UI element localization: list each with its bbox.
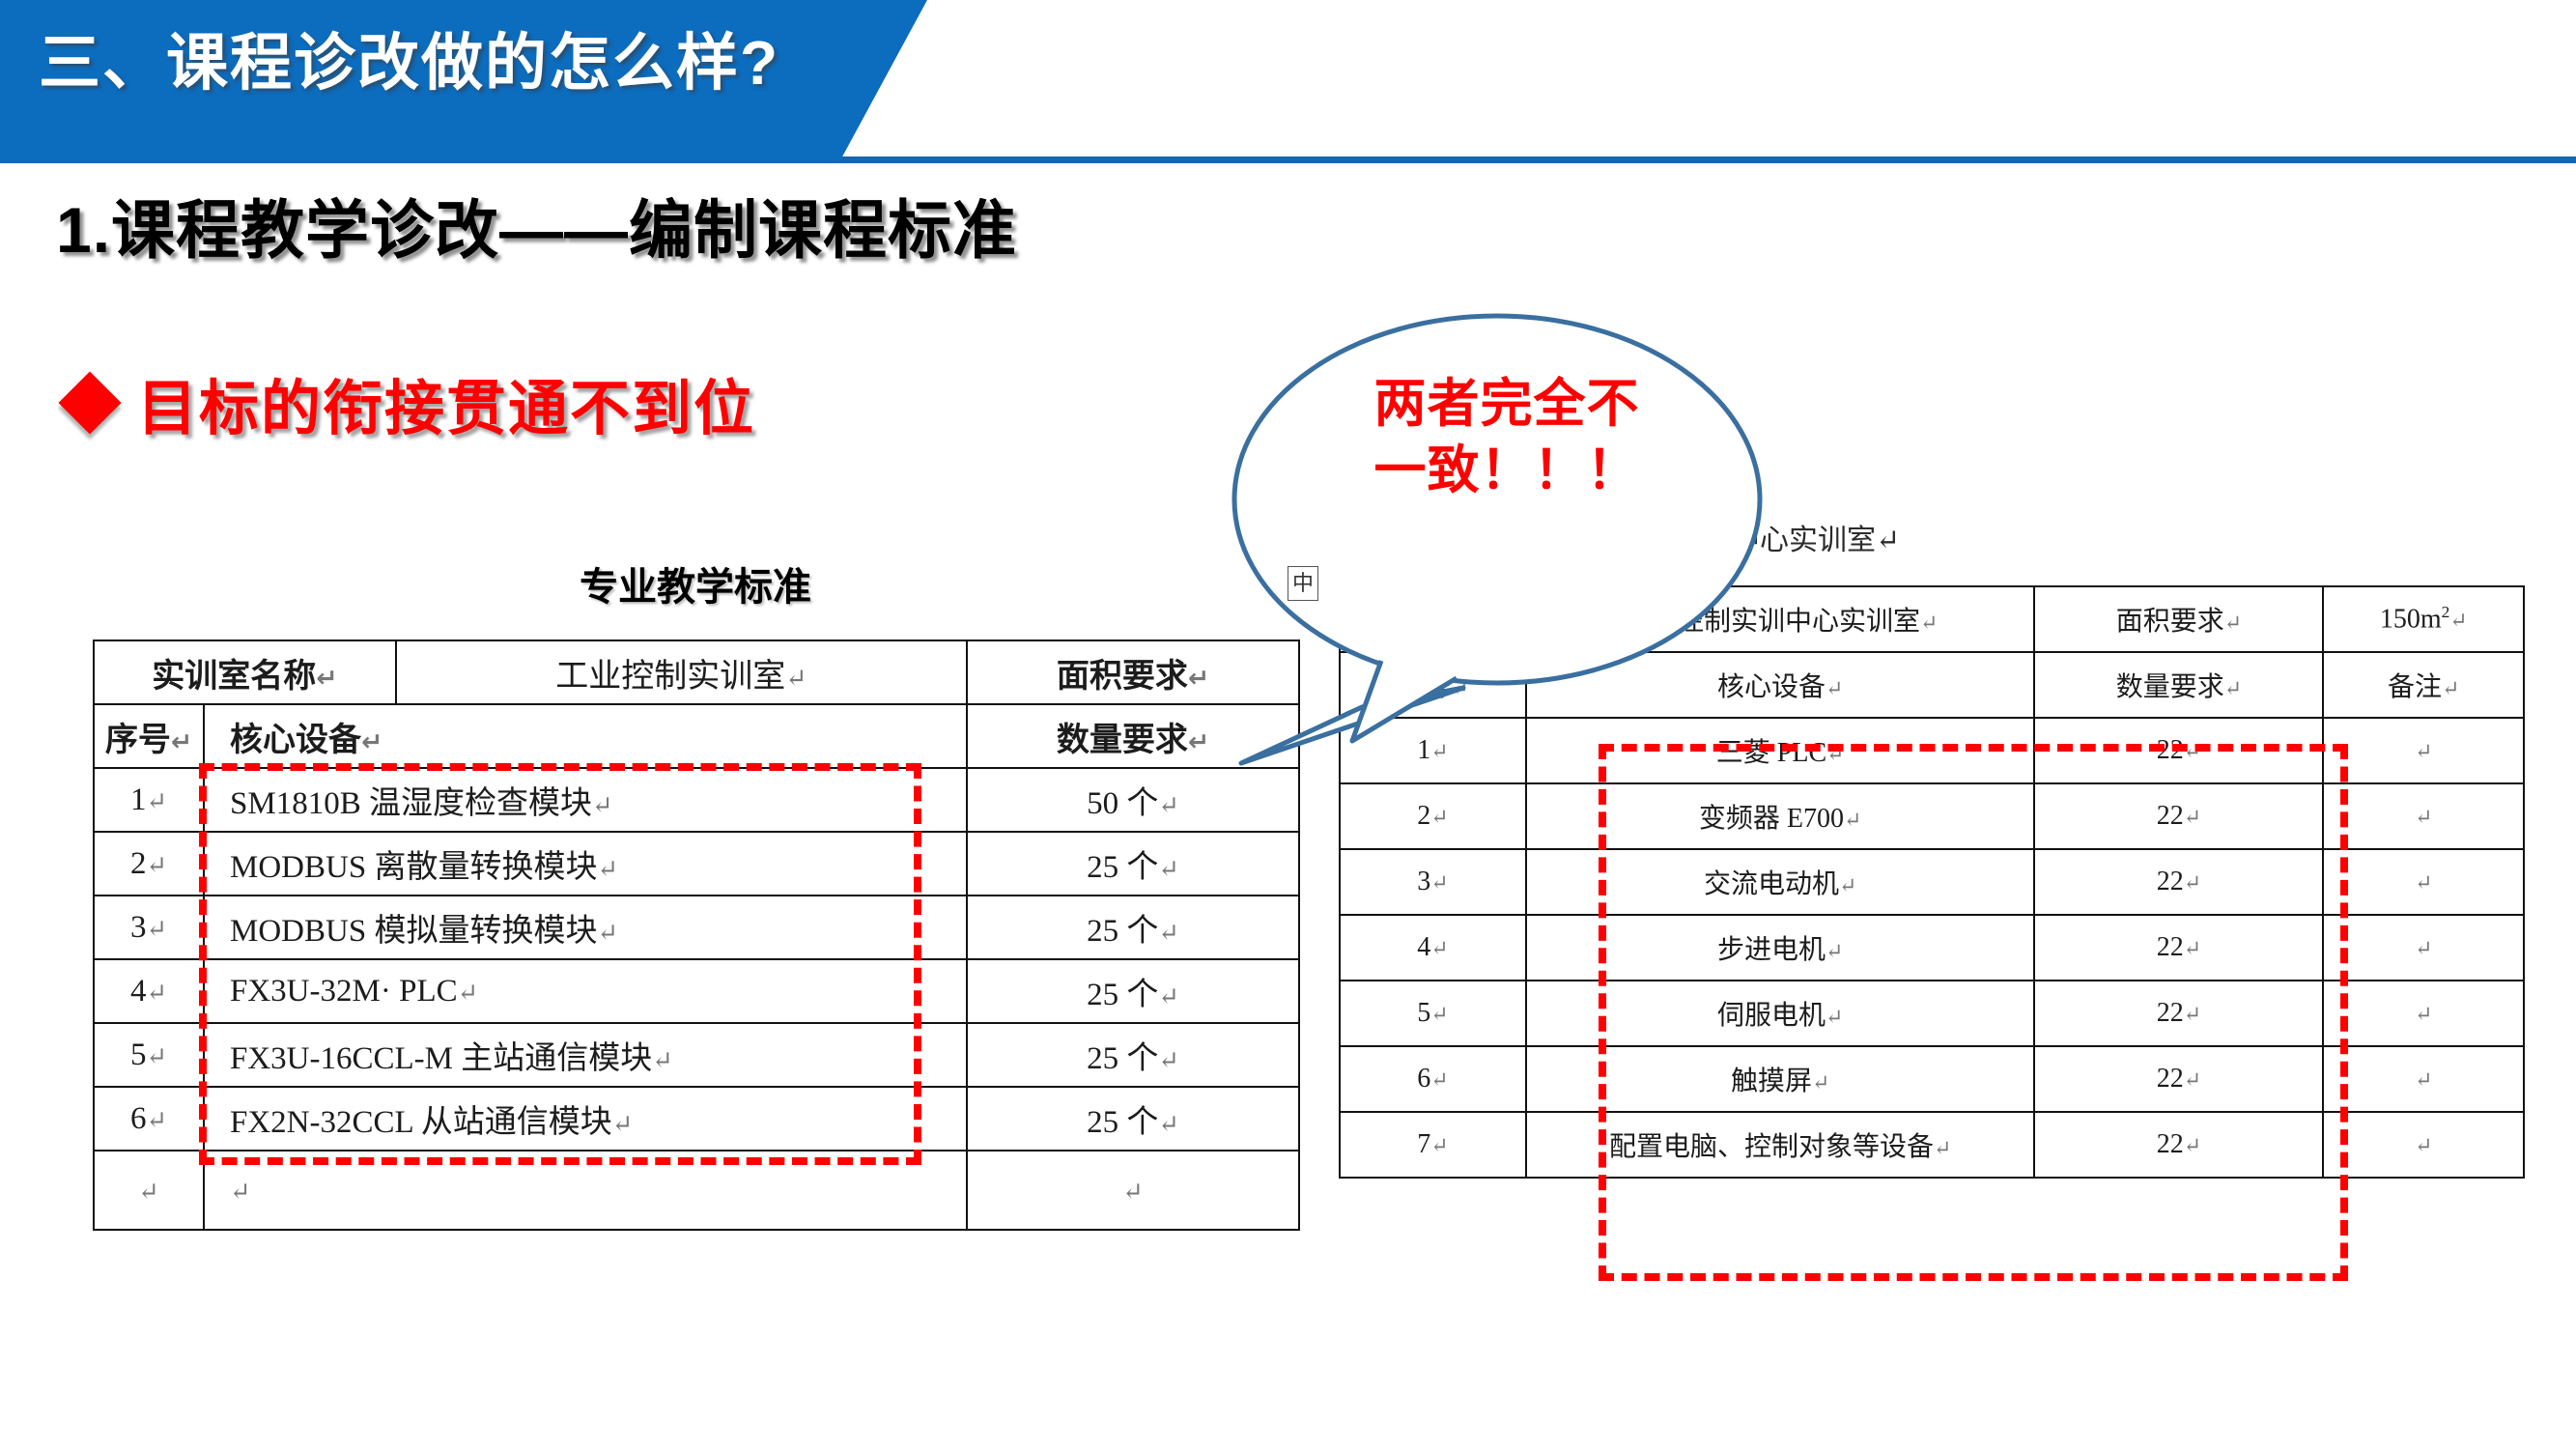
cell-seq: 4↵ (94, 959, 204, 1023)
banner-title: 三、课程诊改做的怎么样? (39, 14, 779, 102)
cell-device: 伺服电机↵ (1526, 981, 2035, 1046)
cell-seq: 2↵ (94, 832, 204, 896)
header-cell-area-req: 面积要求↵ (2034, 586, 2323, 652)
table-row: 5↵ 伺服电机↵ 22↵ ↵ (1340, 981, 2524, 1046)
table-row: 7↵ 配置电脑、控制对象等设备↵ 22↵ ↵ (1340, 1112, 2524, 1178)
left-table-caption: 专业教学标准 (580, 555, 811, 611)
table-row: 2↵ MODBUS 离散量转换模块↵ 25 个↵ (94, 832, 1299, 896)
cell-seq: 6↵ (94, 1087, 204, 1151)
callout-bubble: 两者完全不 一致！！！ (1198, 301, 1816, 784)
header-cell-seq: 序号↵ (94, 704, 204, 768)
cell-remark: ↵ (2323, 981, 2524, 1046)
diamond-bullet-icon (58, 371, 121, 434)
table-row: 5↵ FX3U-16CCL-M 主站通信模块↵ 25 个↵ (94, 1023, 1299, 1087)
cell-device: MODBUS 离散量转换模块↵ (204, 832, 967, 896)
cell-qty: 22↵ (2034, 1112, 2323, 1178)
table-row: 6↵ FX2N-32CCL 从站通信模块↵ 25 个↵ (94, 1087, 1299, 1151)
header-cell-core-device: 核心设备↵ (204, 704, 967, 768)
callout-text: 两者完全不 一致！！！ (1314, 371, 1700, 504)
header-cell-remark: 备注↵ (2323, 652, 2524, 718)
table-header-row: 序号↵ 核心设备↵ 数量要求↵ (94, 704, 1299, 768)
cell-device: 配置电脑、控制对象等设备↵ (1526, 1112, 2035, 1178)
table-row: 2↵ 变频器 E700↵ 22↵ ↵ (1340, 783, 2524, 849)
table-row-empty: ↵ ↵ ↵ (94, 1151, 1299, 1230)
bullet-text: 目标的衔接贯通不到位 (137, 359, 755, 446)
cell-qty: 25 个↵ (967, 896, 1299, 959)
slide-canvas: 三、课程诊改做的怎么样? 1.课程教学诊改——编制课程标准 目标的衔接贯通不到位… (0, 0, 2576, 1450)
cell-device: 变频器 E700↵ (1526, 783, 2035, 849)
table-row: 3↵ 交流电动机↵ 22↵ ↵ (1340, 849, 2524, 915)
cell-device: 交流电动机↵ (1526, 849, 2035, 915)
cell-device: MODBUS 模拟量转换模块↵ (204, 896, 967, 959)
cell-seq: 3↵ (94, 896, 204, 959)
cell-seq: 7↵ (1340, 1112, 1526, 1178)
cell-qty: 22↵ (2034, 1046, 2323, 1112)
cell-device: 触摸屏↵ (1526, 1046, 2035, 1112)
cell-seq: 4↵ (1340, 915, 1526, 981)
cell-qty: 25 个↵ (967, 959, 1299, 1023)
cell-remark: ↵ (2323, 1046, 2524, 1112)
cell-seq: ↵ (94, 1151, 204, 1230)
cell-device: FX2N-32CCL 从站通信模块↵ (204, 1087, 967, 1151)
cell-device: 步进电机↵ (1526, 915, 2035, 981)
cell-seq: 2↵ (1340, 783, 1526, 849)
cell-qty: 22↵ (2034, 783, 2323, 849)
cell-qty: 25 个↵ (967, 1023, 1299, 1087)
bullet-row: 目标的衔接贯通不到位 (68, 359, 755, 446)
cell-remark: ↵ (2323, 1112, 2524, 1178)
cell-qty: 22↵ (2034, 849, 2323, 915)
header-cell-room-value: 工业控制实训室↵ (396, 640, 967, 704)
header-cell-qty-req: 数量要求↵ (2034, 652, 2323, 718)
cell-remark: ↵ (2323, 783, 2524, 849)
cell-remark: ↵ (2323, 849, 2524, 915)
cell-device: ↵ (204, 1151, 967, 1230)
cell-device: SM1810B 温湿度检查模块↵ (204, 768, 967, 832)
cell-qty: 22↵ (2034, 981, 2323, 1046)
cell-seq: 5↵ (94, 1023, 204, 1087)
cell-qty: ↵ (967, 1151, 1299, 1230)
table-header-row: 实训室名称↵ 工业控制实训室↵ 面积要求↵ (94, 640, 1299, 704)
cell-seq: 3↵ (1340, 849, 1526, 915)
table-row: 4↵ 步进电机↵ 22↵ ↵ (1340, 915, 2524, 981)
table-row: 3↵ MODBUS 模拟量转换模块↵ 25 个↵ (94, 896, 1299, 959)
callout-line-1: 两者完全不 (1314, 371, 1700, 438)
callout-line-2: 一致！！！ (1314, 438, 1700, 504)
cell-qty: 25 个↵ (967, 832, 1299, 896)
cell-remark: ↵ (2323, 718, 2524, 783)
header-cell-area-value: 150m2↵ (2323, 586, 2524, 652)
cell-remark: ↵ (2323, 915, 2524, 981)
cell-seq: 1↵ (94, 768, 204, 832)
cell-device: FX3U-16CCL-M 主站通信模块↵ (204, 1023, 967, 1087)
page-title: 1.课程教学诊改——编制课程标准 (56, 179, 1017, 271)
cell-qty: 25 个↵ (967, 1087, 1299, 1151)
cell-device: FX3U-32M· PLC↵ (204, 959, 967, 1023)
header-cell-room-name: 实训室名称↵ (94, 640, 396, 704)
table-row: 6↵ 触摸屏↵ 22↵ ↵ (1340, 1046, 2524, 1112)
callout-tail (1241, 688, 1463, 763)
ime-marker-icon: 中 (1288, 566, 1318, 601)
cell-qty: 22↵ (2034, 915, 2323, 981)
table-row: 4↵ FX3U-32M· PLC↵ 25 个↵ (94, 959, 1299, 1023)
cell-seq: 6↵ (1340, 1046, 1526, 1112)
cell-qty: 22↵ (2034, 718, 2323, 783)
cell-seq: 5↵ (1340, 981, 1526, 1046)
table-row: 1↵ SM1810B 温湿度检查模块↵ 50 个↵ (94, 768, 1299, 832)
professional-teaching-standard-table: 实训室名称↵ 工业控制实训室↵ 面积要求↵ 序号↵ 核心设备↵ 数量要求↵ 1↵… (93, 640, 1300, 1231)
